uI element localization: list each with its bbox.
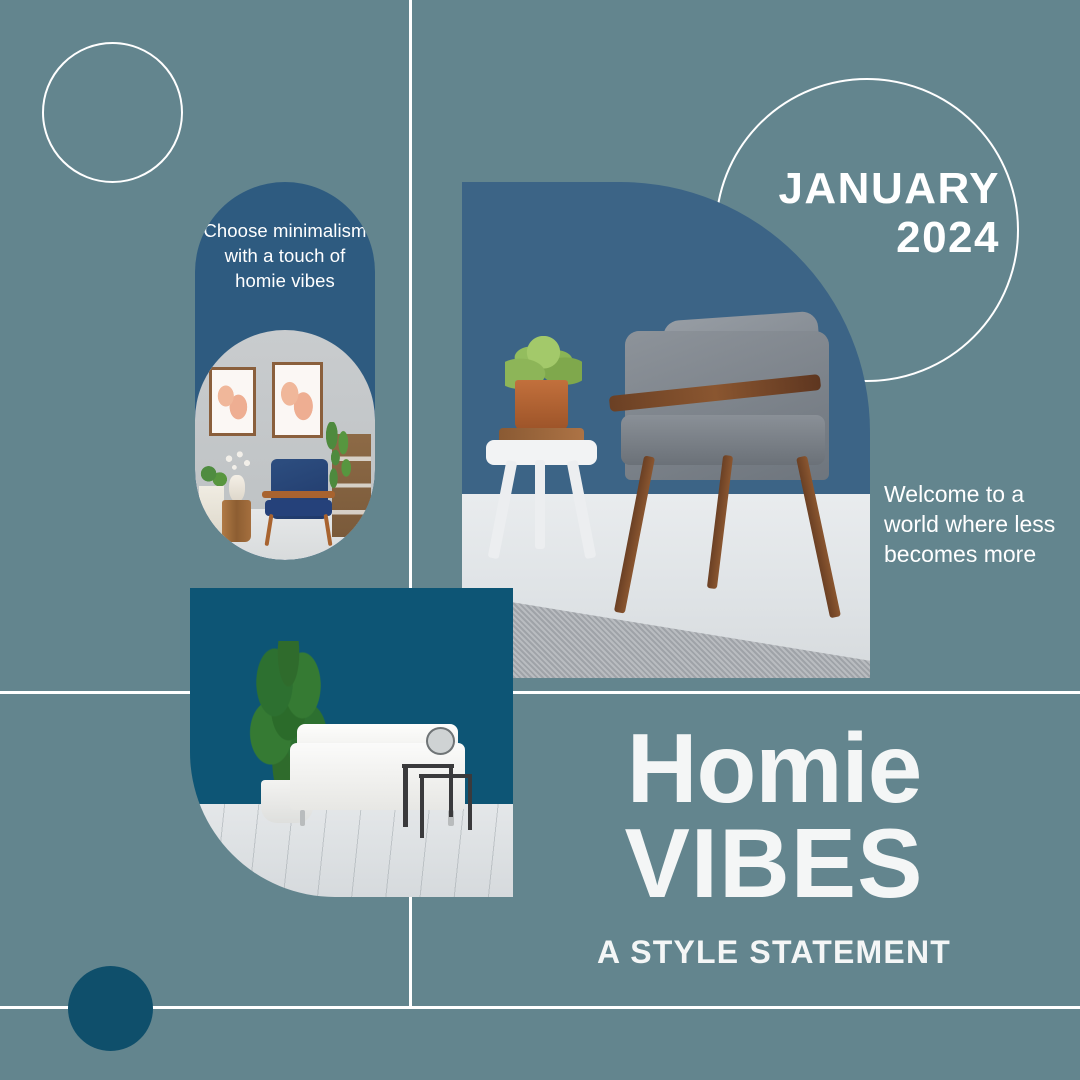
- side-table-leg-3: [420, 774, 424, 838]
- interior-scene: [195, 330, 375, 560]
- side-table-leg-2: [449, 764, 453, 817]
- armchair-frame: [262, 491, 336, 498]
- brand-title-line-2: Vibes: [512, 814, 1036, 912]
- sofa-scene: [190, 588, 513, 897]
- wood-stump-table: [222, 500, 251, 541]
- poster-canvas: Choose minimalism with a touch of homie …: [0, 0, 1080, 1080]
- terracotta-pot: [515, 380, 568, 430]
- table-clock-icon: [426, 727, 455, 755]
- horizontal-divider-middle: [0, 691, 1080, 694]
- brand-subtitle: A Style Statement: [512, 934, 1036, 971]
- outline-circle-icon-top-left: [42, 42, 183, 183]
- side-table-top-a: [402, 764, 454, 768]
- armchair-seat: [265, 500, 332, 516]
- wall-art-left: [209, 367, 256, 436]
- welcome-text: Welcome to a world where less becomes mo…: [884, 479, 1064, 569]
- pill-caption-text: Choose minimalism with a touch of homie …: [203, 218, 367, 293]
- side-cabinet: [199, 486, 224, 537]
- side-table-leg-4: [468, 774, 472, 830]
- brand-title-line-1: Homie: [512, 722, 1036, 814]
- date-year-label: 2024: [760, 213, 1000, 263]
- nesting-side-tables: [397, 761, 481, 841]
- interior-photo-pill: [195, 330, 375, 560]
- side-table-top-b: [419, 774, 473, 778]
- sofa-leg-left: [300, 810, 305, 825]
- date-badge: January 2024: [760, 165, 1000, 263]
- sofa-photo: [190, 588, 513, 897]
- filled-circle-icon-bottom-left: [68, 966, 153, 1051]
- pill-caption-card: Choose minimalism with a touch of homie …: [195, 182, 375, 560]
- horizontal-divider-bottom: [0, 1006, 1080, 1009]
- date-month-label: January: [760, 165, 1000, 213]
- stool-leg-center: [535, 460, 545, 549]
- brand-lockup: Homie Vibes A Style Statement: [512, 722, 1036, 971]
- wall-art-right: [272, 362, 322, 438]
- side-table-leg-1: [403, 764, 407, 827]
